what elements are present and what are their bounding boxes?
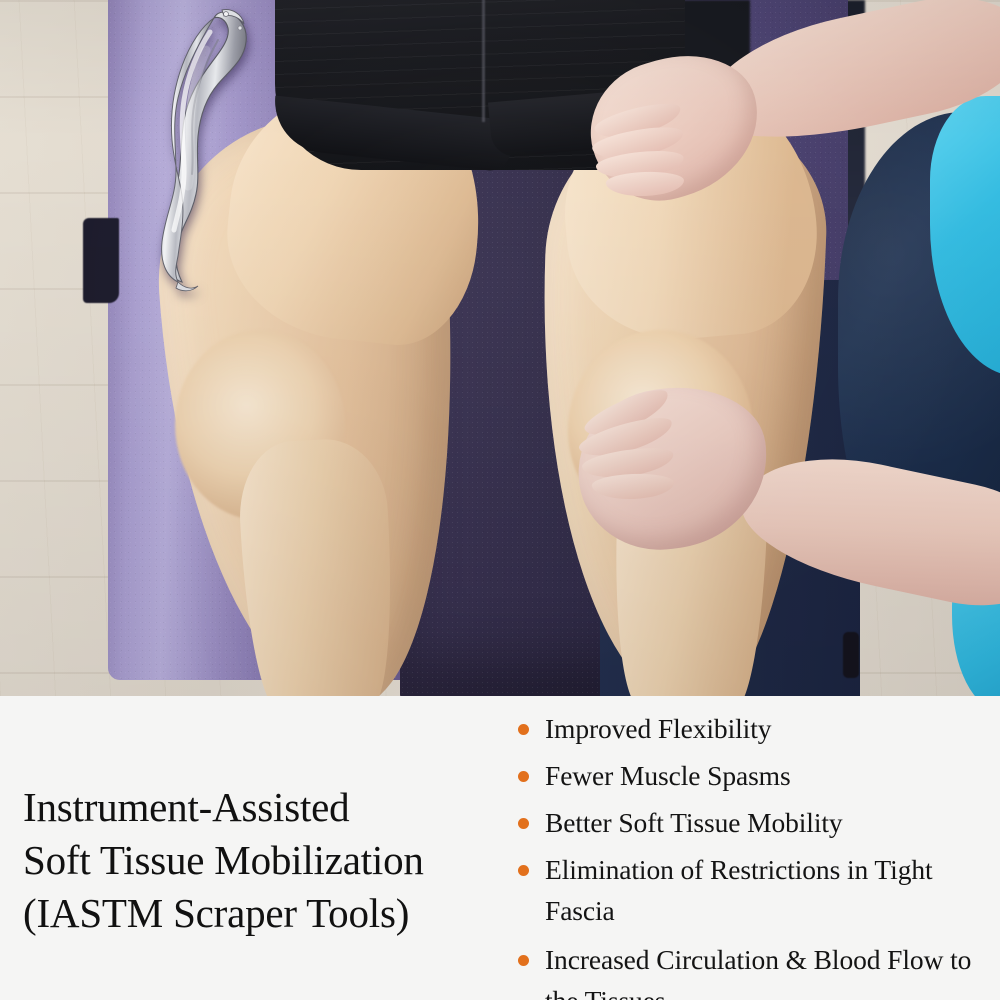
bullet-dot-icon [518, 818, 529, 829]
bullet-dot-icon [518, 865, 529, 876]
list-item-label: Better Soft Tissue Mobility [545, 807, 843, 838]
list-item-label: Fewer Muscle Spasms [545, 760, 791, 791]
title-line-1: Instrument-Assisted [23, 781, 523, 834]
list-item-label: Improved Flexibility [545, 713, 771, 744]
patient-left-shin [236, 436, 398, 696]
table-fitting-right [843, 632, 859, 678]
bullet-dot-icon [518, 771, 529, 782]
page-title: Instrument-Assisted Soft Tissue Mobiliza… [23, 781, 523, 940]
list-item: Increased Circulation & Blood Flow to th… [512, 939, 1000, 1000]
iastm-scraper-tool [152, 4, 270, 292]
list-item-label: Elimination of Restrictions in Tight Fas… [545, 854, 933, 926]
bullet-dot-icon [518, 955, 529, 966]
list-item: Better Soft Tissue Mobility [512, 802, 1000, 843]
title-line-2: Soft Tissue Mobilization [23, 834, 523, 887]
table-fitting-left [83, 218, 119, 303]
hero-photo [0, 0, 1000, 696]
shorts-center-seam [482, 0, 485, 122]
list-item: Elimination of Restrictions in Tight Fas… [512, 849, 1000, 931]
bullet-dot-icon [518, 724, 529, 735]
list-item: Improved Flexibility [512, 708, 1000, 749]
benefits-list: Improved Flexibility Fewer Muscle Spasms… [512, 708, 1000, 1000]
list-item: Fewer Muscle Spasms [512, 755, 1000, 796]
title-line-3: (IASTM Scraper Tools) [23, 887, 523, 940]
list-item-label: Increased Circulation & Blood Flow to th… [545, 944, 971, 1000]
text-panel: Instrument-Assisted Soft Tissue Mobiliza… [0, 696, 1000, 1000]
iastm-infographic: Instrument-Assisted Soft Tissue Mobiliza… [0, 0, 1000, 1000]
